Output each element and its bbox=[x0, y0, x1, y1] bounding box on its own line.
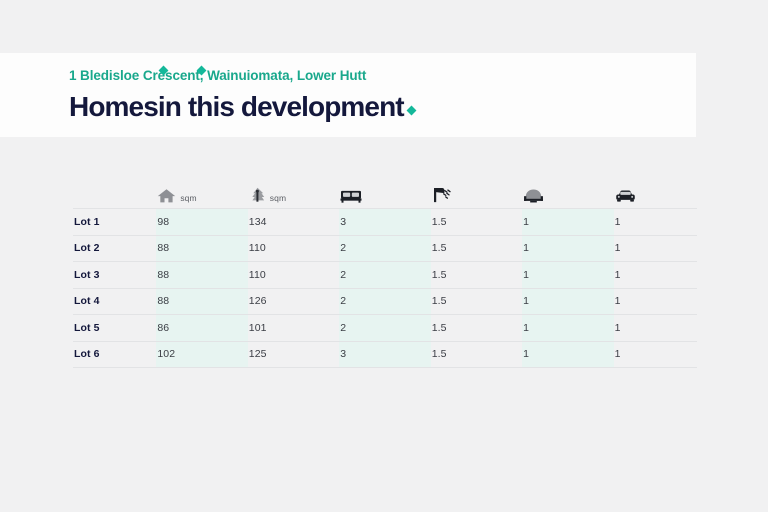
homes-table: sqm s bbox=[73, 174, 697, 368]
table-body: Lot 19813431.511Lot 28811021.511Lot 3881… bbox=[73, 209, 697, 368]
cell-bathrooms: 1.5 bbox=[431, 235, 522, 262]
header-text-block: 1 Bledisloe Crescent, Wainuiomata, Lower… bbox=[69, 67, 415, 124]
cell-lot: Lot 2 bbox=[73, 235, 156, 262]
column-header-lot bbox=[73, 174, 156, 209]
cell-carpark: 1 bbox=[614, 209, 697, 236]
property-address: 1 Bledisloe Crescent, Wainuiomata, Lower… bbox=[69, 67, 415, 85]
cell-lot: Lot 3 bbox=[73, 262, 156, 289]
cell-floor: 102 bbox=[156, 341, 247, 368]
cell-land: 134 bbox=[248, 209, 339, 236]
cell-carpark: 1 bbox=[614, 262, 697, 289]
cell-lot: Lot 1 bbox=[73, 209, 156, 236]
page-title-part2: in this development bbox=[158, 91, 404, 122]
cell-bedrooms: 2 bbox=[339, 315, 430, 342]
cell-lot: Lot 4 bbox=[73, 288, 156, 315]
cell-land: 101 bbox=[248, 315, 339, 342]
cell-bathrooms: 1.5 bbox=[431, 209, 522, 236]
column-header-carparks bbox=[614, 174, 697, 209]
table-header: sqm s bbox=[73, 174, 697, 209]
cell-carpark: 1 bbox=[614, 288, 697, 315]
page-title-part1: Homes bbox=[69, 90, 158, 124]
table-row[interactable]: Lot 610212531.511 bbox=[73, 341, 697, 368]
page-title: Homes in this development bbox=[69, 90, 415, 124]
table-header-row: sqm s bbox=[73, 174, 697, 209]
bed-icon bbox=[340, 189, 362, 204]
table-row[interactable]: Lot 58610121.511 bbox=[73, 315, 697, 342]
cell-garage: 1 bbox=[522, 262, 613, 289]
column-header-land-area: sqm bbox=[248, 174, 339, 209]
cell-floor: 88 bbox=[156, 288, 247, 315]
screenshot-canvas: 1 Bledisloe Crescent, Wainuiomata, Lower… bbox=[0, 0, 768, 512]
table-row[interactable]: Lot 48812621.511 bbox=[73, 288, 697, 315]
shower-icon bbox=[432, 187, 453, 204]
cell-floor: 88 bbox=[156, 235, 247, 262]
unit-label-floor: sqm bbox=[180, 193, 196, 203]
cell-land: 110 bbox=[248, 262, 339, 289]
cell-bedrooms: 2 bbox=[339, 288, 430, 315]
cell-bathrooms: 1.5 bbox=[431, 262, 522, 289]
table-row[interactable]: Lot 38811021.511 bbox=[73, 262, 697, 289]
accent-diamond-period bbox=[406, 106, 416, 116]
homes-table-container: sqm s bbox=[73, 174, 697, 368]
cell-carpark: 1 bbox=[614, 315, 697, 342]
cell-bathrooms: 1.5 bbox=[431, 315, 522, 342]
column-header-bedrooms bbox=[339, 174, 430, 209]
cell-lot: Lot 6 bbox=[73, 341, 156, 368]
tree-icon bbox=[249, 187, 266, 204]
cell-garage: 1 bbox=[522, 209, 613, 236]
cell-floor: 98 bbox=[156, 209, 247, 236]
cell-bedrooms: 2 bbox=[339, 235, 430, 262]
cell-bathrooms: 1.5 bbox=[431, 288, 522, 315]
cell-carpark: 1 bbox=[614, 341, 697, 368]
table-row[interactable]: Lot 28811021.511 bbox=[73, 235, 697, 262]
cell-garage: 1 bbox=[522, 315, 613, 342]
cell-carpark: 1 bbox=[614, 235, 697, 262]
page-title-part2-wrap: in this development bbox=[158, 90, 404, 124]
cell-bedrooms: 3 bbox=[339, 209, 430, 236]
cell-bedrooms: 3 bbox=[339, 341, 430, 368]
house-icon bbox=[157, 188, 176, 204]
column-header-garage bbox=[522, 174, 613, 209]
garage-icon bbox=[523, 188, 544, 204]
cell-bedrooms: 2 bbox=[339, 262, 430, 289]
cell-garage: 1 bbox=[522, 288, 613, 315]
cell-land: 126 bbox=[248, 288, 339, 315]
unit-label-land: sqm bbox=[270, 193, 286, 203]
cell-land: 110 bbox=[248, 235, 339, 262]
cell-floor: 88 bbox=[156, 262, 247, 289]
car-icon bbox=[615, 189, 636, 204]
cell-garage: 1 bbox=[522, 341, 613, 368]
column-header-bathrooms bbox=[431, 174, 522, 209]
cell-land: 125 bbox=[248, 341, 339, 368]
cell-floor: 86 bbox=[156, 315, 247, 342]
column-header-floor-area: sqm bbox=[156, 174, 247, 209]
header-band: 1 Bledisloe Crescent, Wainuiomata, Lower… bbox=[0, 53, 696, 137]
cell-garage: 1 bbox=[522, 235, 613, 262]
table-row[interactable]: Lot 19813431.511 bbox=[73, 209, 697, 236]
cell-bathrooms: 1.5 bbox=[431, 341, 522, 368]
cell-lot: Lot 5 bbox=[73, 315, 156, 342]
